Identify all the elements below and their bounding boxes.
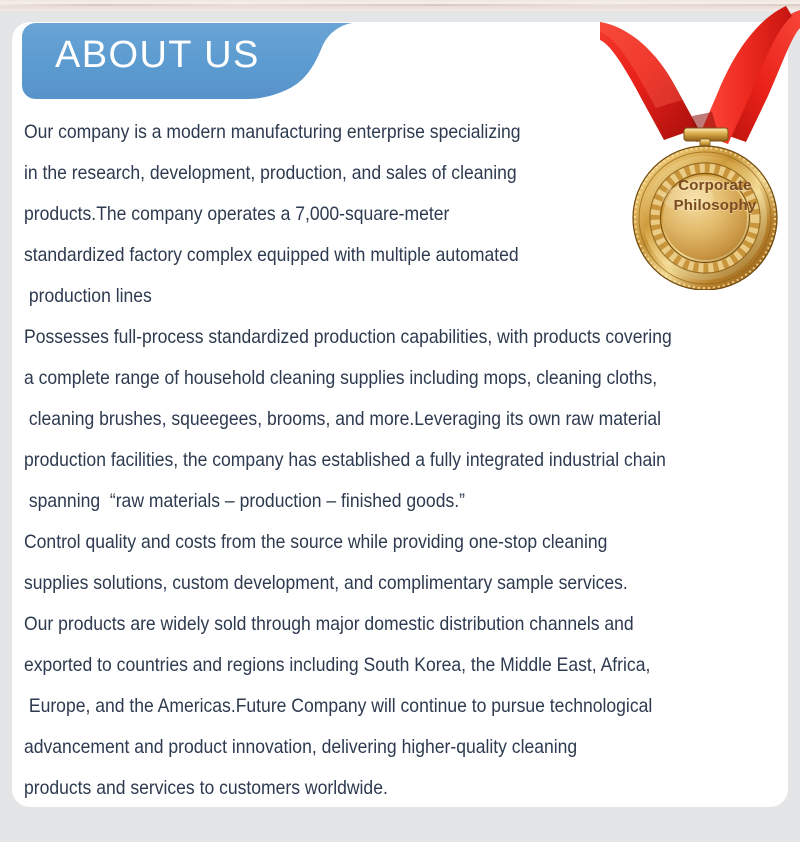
about-paragraph: Control quality and costs from the sourc… (24, 522, 780, 809)
about-text-line: supplies solutions, custom development, … (24, 563, 704, 604)
about-paragraph: Possesses full-process standardized prod… (24, 317, 780, 522)
medal-caption: Corporate Philosophy (647, 176, 783, 216)
medal-caption-line-2: Philosophy (647, 196, 783, 216)
about-text-line: a complete range of household cleaning s… (24, 358, 704, 399)
about-text-line: advancement and product innovation, deli… (24, 727, 704, 768)
about-text-line: spanning “raw materials – production – f… (24, 481, 704, 522)
about-text-line: Our products are widely sold through maj… (24, 604, 704, 645)
about-text-line: cleaning brushes, squeegees, brooms, and… (24, 399, 704, 440)
about-text-line: products and services to customers world… (24, 768, 704, 809)
corporate-philosophy-medal (600, 0, 800, 290)
about-text-line: Europe, and the Americas.Future Company … (24, 686, 704, 727)
about-text-line: production facilities, the company has e… (24, 440, 704, 481)
page-title: ABOUT US (55, 36, 260, 74)
about-text-line: Possesses full-process standardized prod… (24, 317, 704, 358)
about-text-line: exported to countries and regions includ… (24, 645, 704, 686)
about-text-line: Control quality and costs from the sourc… (24, 522, 704, 563)
medal-caption-line-1: Corporate (647, 176, 783, 196)
